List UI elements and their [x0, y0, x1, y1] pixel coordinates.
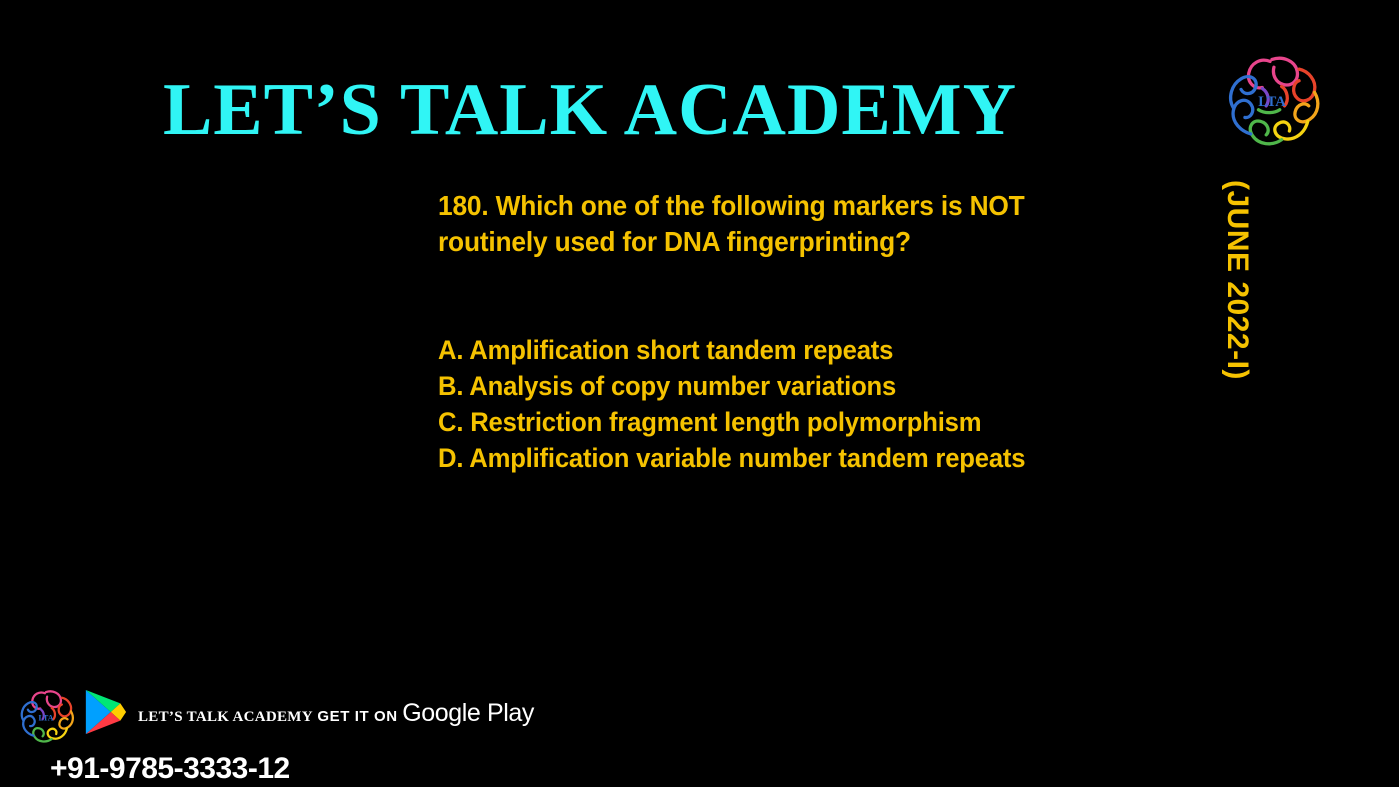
- contact-phone-number: +91-9785-3333-12: [50, 752, 290, 786]
- logo-center-text: LTA: [1258, 94, 1286, 110]
- google-play-icon: [82, 688, 128, 738]
- page-title: LET’S TALK ACADEMY: [0, 68, 1180, 152]
- option-a[interactable]: A. Amplification short tandem repeats: [438, 332, 1189, 368]
- badge-brand-name: LET’S TALK ACADEMY: [138, 709, 313, 725]
- question-text: 180. Which one of the following markers …: [438, 188, 1134, 260]
- option-d[interactable]: D. Amplification variable number tandem …: [438, 440, 1189, 476]
- option-c[interactable]: C. Restriction fragment length polymorph…: [438, 404, 1189, 440]
- badge-get-it-on: GET IT ON: [317, 708, 397, 725]
- brand-logo-icon: LTA: [1213, 44, 1331, 160]
- option-b[interactable]: B. Analysis of copy number variations: [438, 368, 1189, 404]
- question-block: 180. Which one of the following markers …: [438, 188, 1178, 260]
- badge-store-name: Google Play: [402, 699, 534, 727]
- google-play-badge-text: LET’S TALK ACADEMY GET IT ON Google Play: [138, 699, 534, 727]
- brand-logo-footer-icon: LTA: [12, 682, 80, 752]
- google-play-badge[interactable]: LET’S TALK ACADEMY GET IT ON Google Play: [82, 688, 534, 738]
- options-list: A. Amplification short tandem repeats B.…: [438, 332, 1228, 476]
- protein-ribbon-circle-icon-small: LTA: [12, 682, 80, 752]
- protein-ribbon-circle-icon: LTA: [1213, 44, 1331, 160]
- logo-center-text-small: LTA: [39, 713, 54, 722]
- exam-session-tag: (JUNE 2022-I): [1220, 180, 1254, 460]
